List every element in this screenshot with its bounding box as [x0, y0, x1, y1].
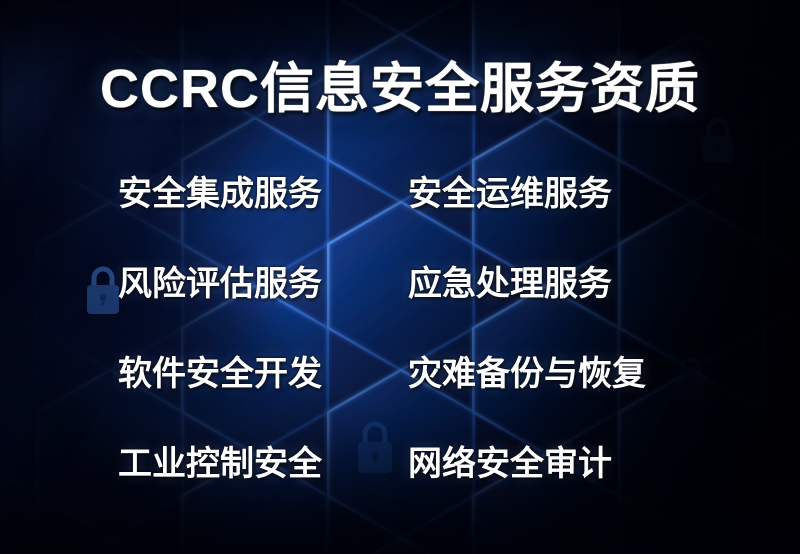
service-item-network-security-audit: 网络安全审计 [408, 442, 698, 486]
service-item-security-integration: 安全集成服务 [118, 172, 408, 216]
ccrc-qualification-banner: CCRC信息安全服务资质 安全集成服务 安全运维服务 风险评估服务 应急处理服务… [0, 0, 800, 554]
service-row: 工业控制安全 网络安全审计 [118, 442, 698, 532]
service-row: 安全集成服务 安全运维服务 [118, 172, 698, 262]
service-item-industrial-control-security: 工业控制安全 [118, 442, 408, 486]
service-item-risk-assessment: 风险评估服务 [118, 262, 408, 306]
service-row: 风险评估服务 应急处理服务 [118, 262, 698, 352]
service-item-security-operations: 安全运维服务 [408, 172, 698, 216]
service-list: 安全集成服务 安全运维服务 风险评估服务 应急处理服务 软件安全开发 灾难备份与… [118, 172, 698, 532]
page-title: CCRC信息安全服务资质 [0, 58, 800, 120]
service-item-software-security-development: 软件安全开发 [118, 352, 408, 396]
service-item-disaster-backup-recovery: 灾难备份与恢复 [408, 352, 698, 396]
service-item-emergency-response: 应急处理服务 [408, 262, 698, 306]
banner-content: CCRC信息安全服务资质 安全集成服务 安全运维服务 风险评估服务 应急处理服务… [0, 0, 800, 554]
service-row: 软件安全开发 灾难备份与恢复 [118, 352, 698, 442]
